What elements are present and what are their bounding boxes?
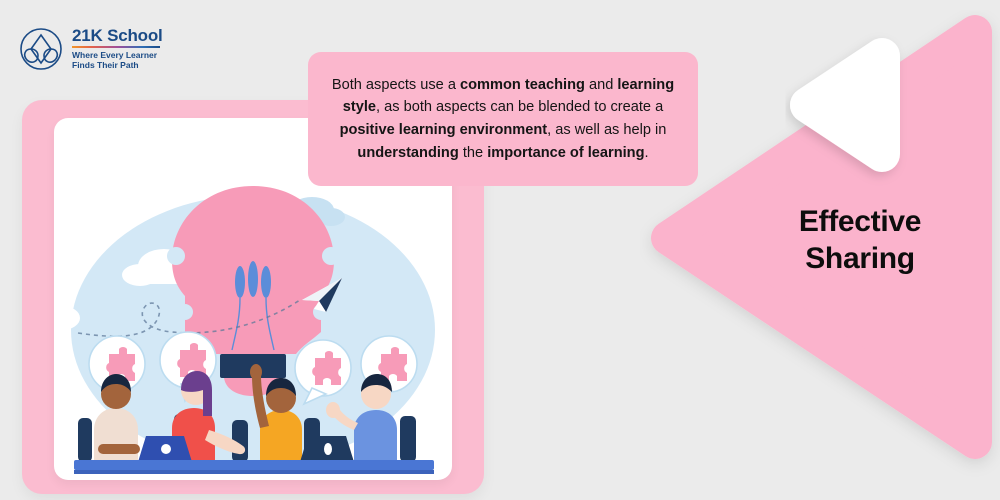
brand-logo: 21K School Where Every Learner Finds The…	[18, 26, 163, 72]
quote-emphasis: understanding	[357, 145, 458, 161]
desk-edge	[74, 470, 434, 474]
quote-run: Both aspects use a	[332, 77, 460, 93]
slide-canvas: 21K School Where Every Learner Finds The…	[0, 0, 1000, 500]
quote-text: Both aspects use a common teaching and l…	[328, 74, 678, 164]
desk-top	[74, 460, 434, 470]
quote-emphasis: common teaching	[460, 77, 585, 93]
quote-callout-box: Both aspects use a common teaching and l…	[308, 52, 698, 186]
quote-run: the	[459, 145, 487, 161]
quote-run: , as both aspects can be blended to crea…	[376, 99, 663, 115]
brand-gradient-rule	[72, 46, 160, 48]
brand-title: 21K School	[72, 27, 163, 45]
quote-run: , as well as help in	[547, 122, 666, 138]
brand-tagline: Where Every Learner Finds Their Path	[72, 50, 163, 71]
quote-emphasis: positive learning environment	[340, 122, 548, 138]
lotus-circle-icon	[18, 26, 64, 72]
page-title: Effective Sharing	[760, 204, 960, 277]
brand-text: 21K School Where Every Learner Finds The…	[72, 27, 163, 71]
quote-run: .	[645, 145, 649, 161]
quote-emphasis: importance of learning	[487, 145, 644, 161]
quote-run: and	[585, 77, 617, 93]
